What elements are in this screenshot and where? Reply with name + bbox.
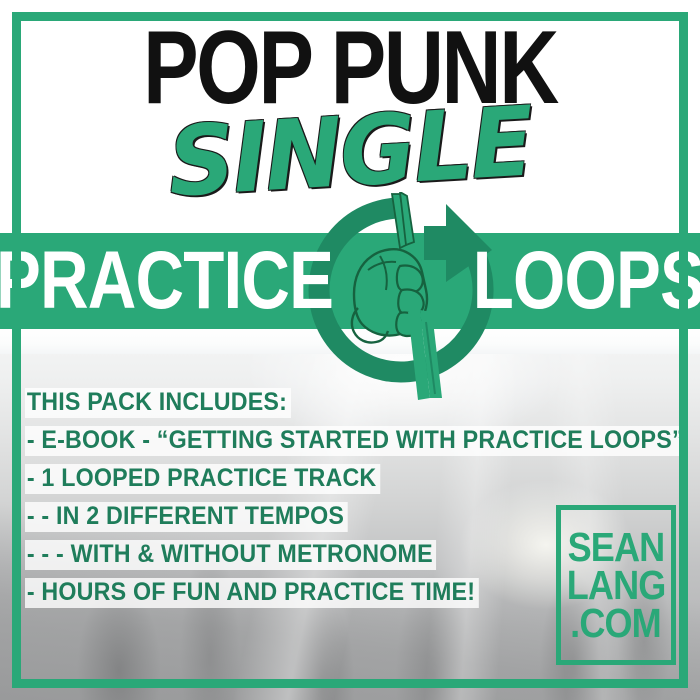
banner-word-practice: PRACTICE xyxy=(0,233,333,329)
list-item: - HOURS OF FUN AND PRACTICE TIME! xyxy=(25,578,479,608)
list-item: - E-BOOK - “GETTING STARTED WITH PRACTIC… xyxy=(25,426,687,456)
banner-word-loops: LOOPS xyxy=(473,233,700,329)
poster-artwork: POP PUNK SINGLE PRACTICE LOOPS THIS PACK… xyxy=(0,0,700,700)
brand-badge-seanlang[interactable]: SEAN LANG .COM xyxy=(556,505,676,665)
badge-line-com: .COM xyxy=(571,604,662,642)
list-item: - 1 LOOPED PRACTICE TRACK xyxy=(25,464,380,494)
includes-list: THIS PACK INCLUDES: - E-BOOK - “GETTING … xyxy=(25,388,545,616)
list-item: - - - WITH & WITHOUT METRONOME xyxy=(25,540,437,570)
badge-line-lang: LANG xyxy=(567,566,666,604)
list-item: - - IN 2 DIFFERENT TEMPOS xyxy=(25,502,348,532)
includes-heading: THIS PACK INCLUDES: xyxy=(25,388,291,418)
badge-line-sean: SEAN xyxy=(568,528,665,566)
